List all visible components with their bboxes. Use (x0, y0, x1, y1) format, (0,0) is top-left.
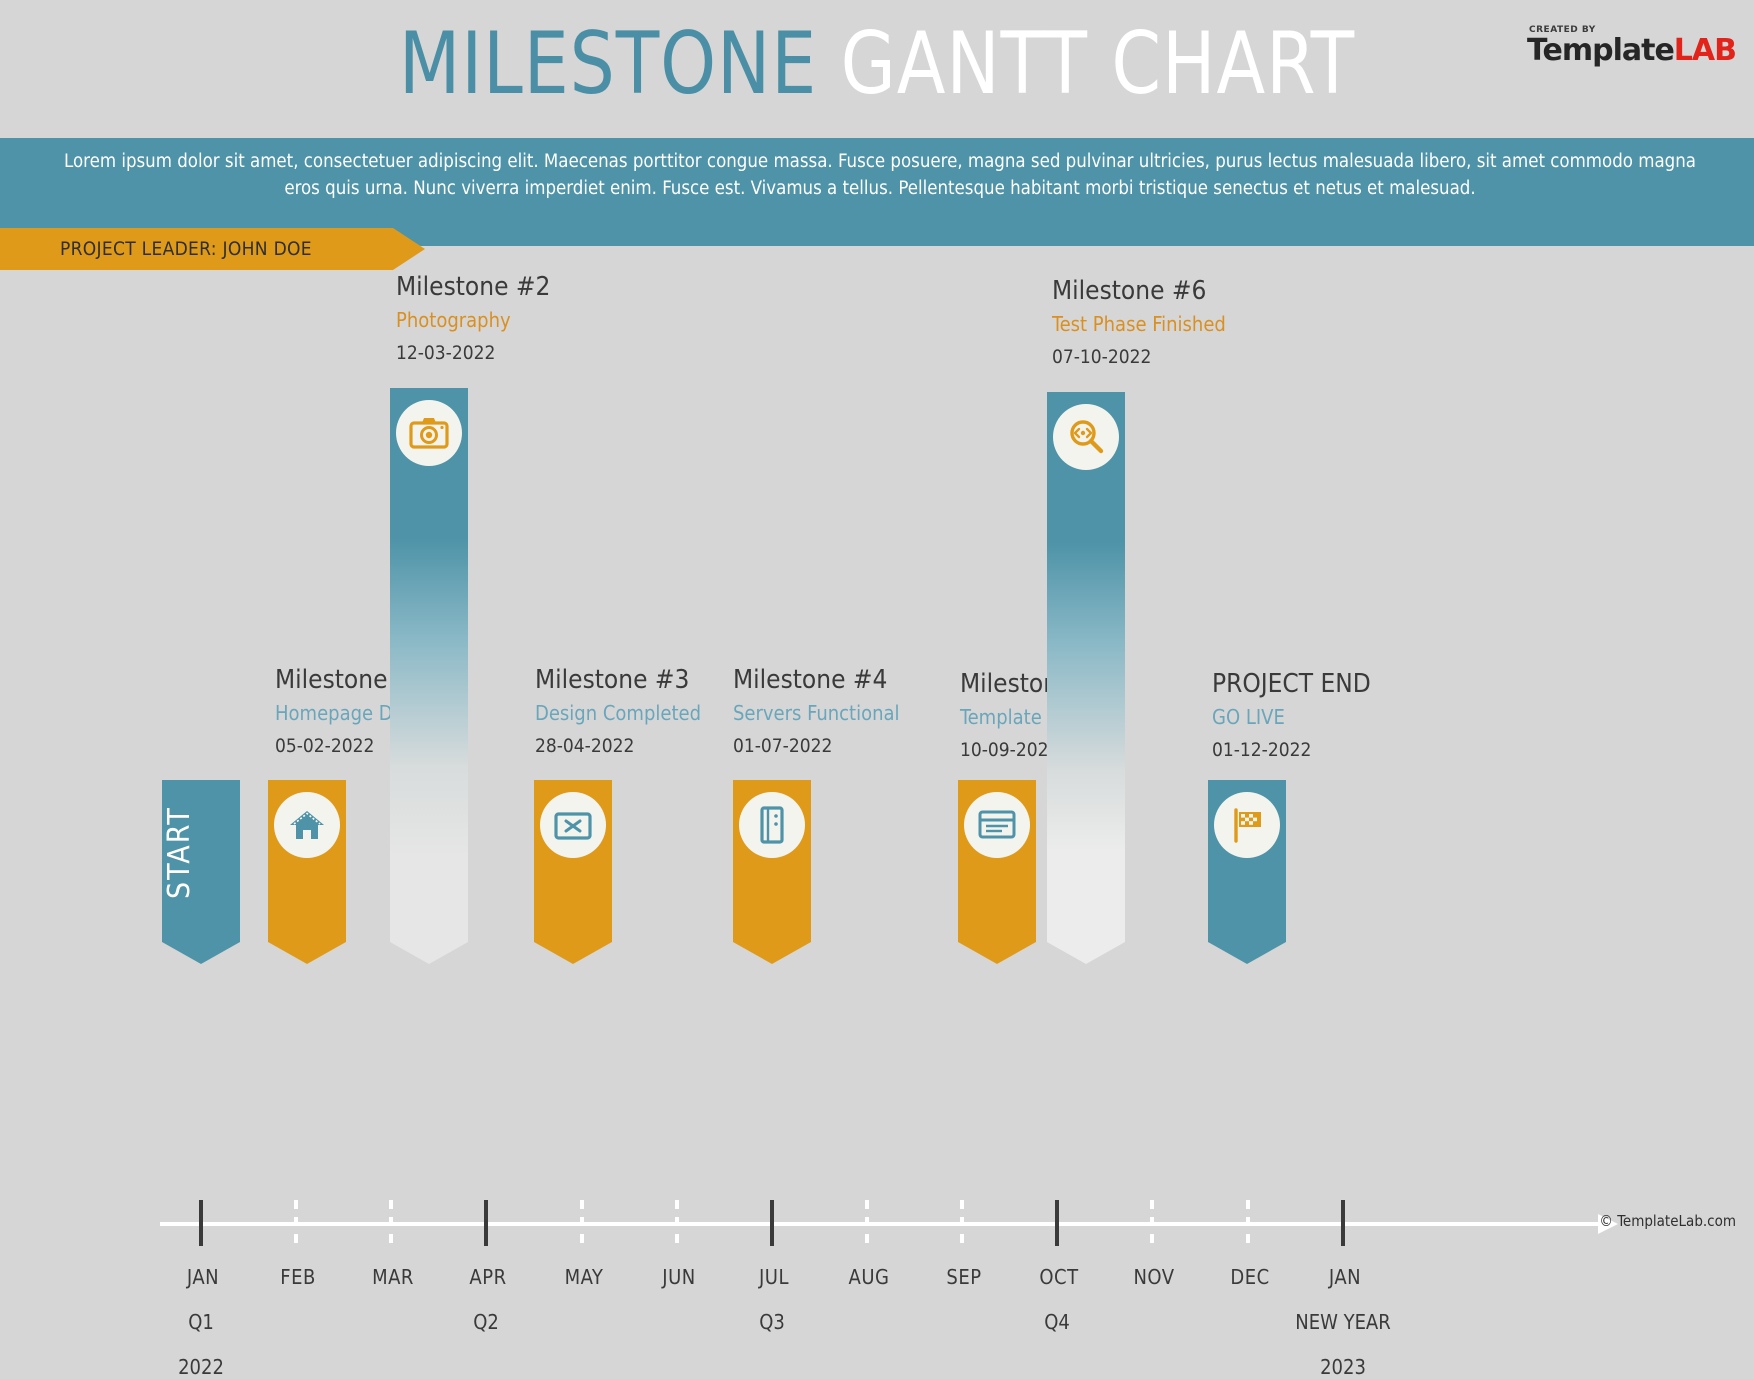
milestone-pin-m4[interactable] (733, 780, 811, 920)
timeline-axis (160, 1222, 1600, 1226)
milestone-pin-m1[interactable] (268, 780, 346, 920)
quarter-label-q3: Q3 (692, 1310, 852, 1334)
milestone-label-end: PROJECT END GO LIVE 01-12-2022 (1212, 667, 1542, 766)
page-title: MILESTONE GANTT CHART (70, 16, 1684, 112)
milestone-pin-m6[interactable] (1047, 392, 1125, 920)
milestone-label-m2: Milestone #2 Photography 12-03-2022 (396, 270, 726, 369)
project-leader-ribbon: PROJECT LEADER: JOHN DOE (0, 228, 425, 270)
axis-tick-oct (1055, 1200, 1059, 1246)
pin-tip (268, 920, 346, 964)
page-header: MILESTONE GANTT CHART CREATED BY Templat… (0, 0, 1754, 138)
pin-tip (733, 920, 811, 964)
milestone-subtitle: Photography (396, 304, 726, 337)
milestone-date: 07-10-2022 (1052, 341, 1382, 373)
pin-bar (390, 388, 468, 920)
milestone-label-m6: Milestone #6 Test Phase Finished 07-10-2… (1052, 274, 1382, 373)
quarter-label-new-year: NEW YEAR (1263, 1310, 1423, 1334)
gantt-chart-area: Milestone #2 Photography 12-03-2022 Mile… (0, 270, 1754, 1240)
magnifier-icon (1053, 404, 1119, 470)
month-label-jan2: JAN (1285, 1265, 1405, 1289)
image-icon (540, 792, 606, 858)
camera-icon (396, 400, 462, 466)
milestone-pin-m3[interactable] (534, 780, 612, 920)
pin-tip (1208, 920, 1286, 964)
milestone-date: 12-03-2022 (396, 337, 726, 369)
axis-tick-feb (294, 1200, 298, 1246)
logo-brand-lab: LAB (1674, 33, 1736, 68)
axis-tick-sep (960, 1200, 964, 1246)
milestone-title: Milestone #6 (1052, 274, 1382, 308)
logo-brand: TemplateLAB (1527, 33, 1736, 68)
axis-tick-jul (770, 1200, 774, 1246)
axis-tick-apr (484, 1200, 488, 1246)
milestone-pin-m2[interactable] (390, 388, 468, 920)
logo-brand-template: Template (1527, 33, 1674, 68)
axis-tick-aug (865, 1200, 869, 1246)
milestone-pin-start[interactable]: START (162, 780, 240, 920)
milestone-date: 01-12-2022 (1212, 734, 1542, 766)
axis-tick-jan2 (1341, 1200, 1345, 1246)
start-label: START (162, 794, 240, 912)
milestone-title: Milestone #2 (396, 270, 726, 304)
page-title-accent: MILESTONE (399, 14, 817, 114)
pin-tip (1047, 920, 1125, 964)
server-icon (739, 792, 805, 858)
quarter-label-q2: Q2 (406, 1310, 566, 1334)
quarter-label-q4: Q4 (977, 1310, 1137, 1334)
pin-tip (390, 920, 468, 964)
milestone-pin-m5[interactable] (958, 780, 1036, 920)
axis-tick-jan (199, 1200, 203, 1246)
quarter-label-q1: Q1 (121, 1310, 281, 1334)
browser-icon (964, 792, 1030, 858)
axis-tick-jun (675, 1200, 679, 1246)
pin-tip (534, 920, 612, 964)
pin-tip (958, 920, 1036, 964)
templatelab-logo: CREATED BY TemplateLAB (1527, 26, 1736, 66)
axis-tick-nov (1150, 1200, 1154, 1246)
milestone-subtitle: Test Phase Finished (1052, 308, 1382, 341)
milestone-pin-end[interactable] (1208, 780, 1286, 920)
year-label-2023: 2023 (1263, 1355, 1423, 1379)
milestone-title: PROJECT END (1212, 667, 1542, 701)
home-icon (274, 792, 340, 858)
axis-tick-mar (389, 1200, 393, 1246)
axis-tick-may (580, 1200, 584, 1246)
pin-bar (1047, 392, 1125, 920)
project-leader-label: PROJECT LEADER: JOHN DOE (60, 238, 312, 260)
pin-tip (162, 920, 240, 964)
description-text: Lorem ipsum dolor sit amet, consectetuer… (55, 148, 1705, 202)
axis-tick-dec (1246, 1200, 1250, 1246)
page-title-rest: GANTT CHART (841, 14, 1355, 114)
milestone-subtitle: GO LIVE (1212, 701, 1542, 734)
flag-icon (1214, 792, 1280, 858)
year-label-2022: 2022 (121, 1355, 281, 1379)
copyright-notice: © TemplateLab.com (1599, 1212, 1736, 1230)
